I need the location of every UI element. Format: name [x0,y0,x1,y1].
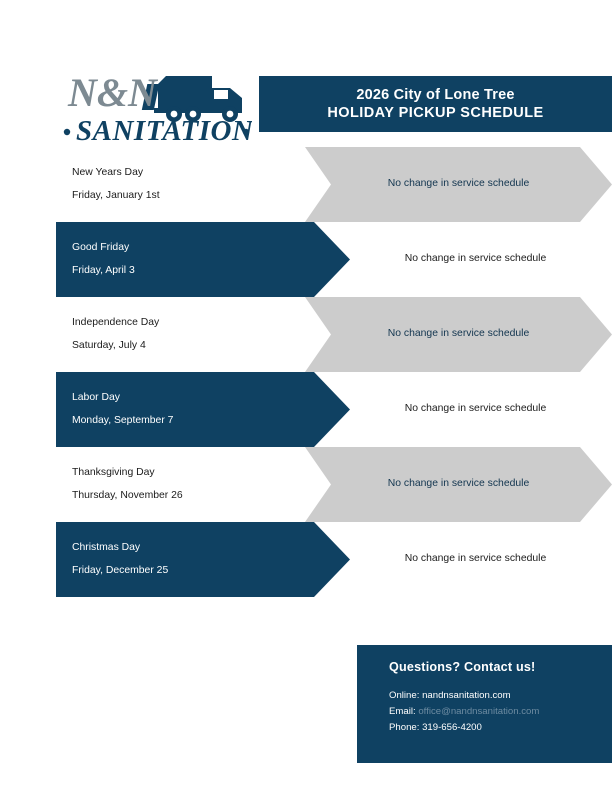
holiday-schedule-page: N&N SANITATION 2026 City of Lone Tree HO… [0,0,612,792]
status-block: No change in service schedule [305,222,612,297]
contact-online-line: Online: nandnsanitation.com [389,688,612,704]
contact-email-value[interactable]: office@nandnsanitation.com [418,706,539,717]
holiday-name: Good Friday [72,243,135,253]
status-text: No change in service schedule [305,222,612,297]
contact-phone-line: Phone: 319-656-4200 [389,720,612,736]
holiday-date: Friday, December 25 [72,566,168,576]
logo-brand-top: N&N [67,70,159,115]
holiday-text: Good FridayFriday, April 3 [72,222,135,297]
holiday-name: New Years Day [72,168,160,178]
contact-online-value[interactable]: nandnsanitation.com [422,690,511,701]
holiday-name: Labor Day [72,393,173,403]
logo-artwork: N&N SANITATION [62,62,252,148]
status-text: No change in service schedule [305,522,612,597]
holiday-text: New Years DayFriday, January 1st [72,147,160,222]
holiday-text: Christmas DayFriday, December 25 [72,522,168,597]
contact-email-line: Email: office@nandnsanitation.com [389,704,612,720]
holiday-date: Thursday, November 26 [72,491,183,501]
holiday-date: Monday, September 7 [72,416,173,426]
holiday-name: Independence Day [72,318,159,328]
status-text: No change in service schedule [305,297,612,372]
holiday-text: Labor DayMonday, September 7 [72,372,173,447]
schedule-rows: New Years DayFriday, January 1stNo chang… [0,147,612,597]
logo-dot-left [64,129,70,135]
logo-dot-right [243,129,249,135]
contact-phone-label: Phone: [389,722,419,733]
contact-box: Questions? Contact us! Online: nandnsani… [357,645,612,763]
contact-online-label: Online: [389,690,419,701]
holiday-name: Thanksgiving Day [72,468,183,478]
header-title-year: 2026 City of Lone Tree [356,88,514,103]
status-text: No change in service schedule [305,147,612,222]
schedule-row: Labor DayMonday, September 7No change in… [0,372,612,447]
logo-brand-bottom: SANITATION [76,115,252,147]
holiday-date: Saturday, July 4 [72,341,159,351]
holiday-text: Independence DaySaturday, July 4 [72,297,159,372]
contact-email-label: Email: [389,706,416,717]
holiday-date: Friday, January 1st [72,191,160,201]
schedule-row: Independence DaySaturday, July 4No chang… [0,297,612,372]
status-block: No change in service schedule [305,522,612,597]
status-text: No change in service schedule [305,372,612,447]
schedule-row: New Years DayFriday, January 1stNo chang… [0,147,612,222]
status-block: No change in service schedule [305,447,612,522]
holiday-text: Thanksgiving DayThursday, November 26 [72,447,183,522]
header-title-main: HOLIDAY PICKUP SCHEDULE [327,106,543,121]
header-banner: 2026 City of Lone Tree HOLIDAY PICKUP SC… [259,76,612,132]
schedule-row: Christmas DayFriday, December 25No chang… [0,522,612,597]
contact-title: Questions? Contact us! [389,661,612,674]
status-block: No change in service schedule [305,297,612,372]
holiday-date: Friday, April 3 [72,266,135,276]
schedule-row: Thanksgiving DayThursday, November 26No … [0,447,612,522]
company-logo: N&N SANITATION [62,62,252,148]
schedule-row: Good FridayFriday, April 3No change in s… [0,222,612,297]
status-text: No change in service schedule [305,447,612,522]
status-block: No change in service schedule [305,147,612,222]
status-block: No change in service schedule [305,372,612,447]
contact-phone-value[interactable]: 319-656-4200 [422,722,482,733]
holiday-name: Christmas Day [72,543,168,553]
